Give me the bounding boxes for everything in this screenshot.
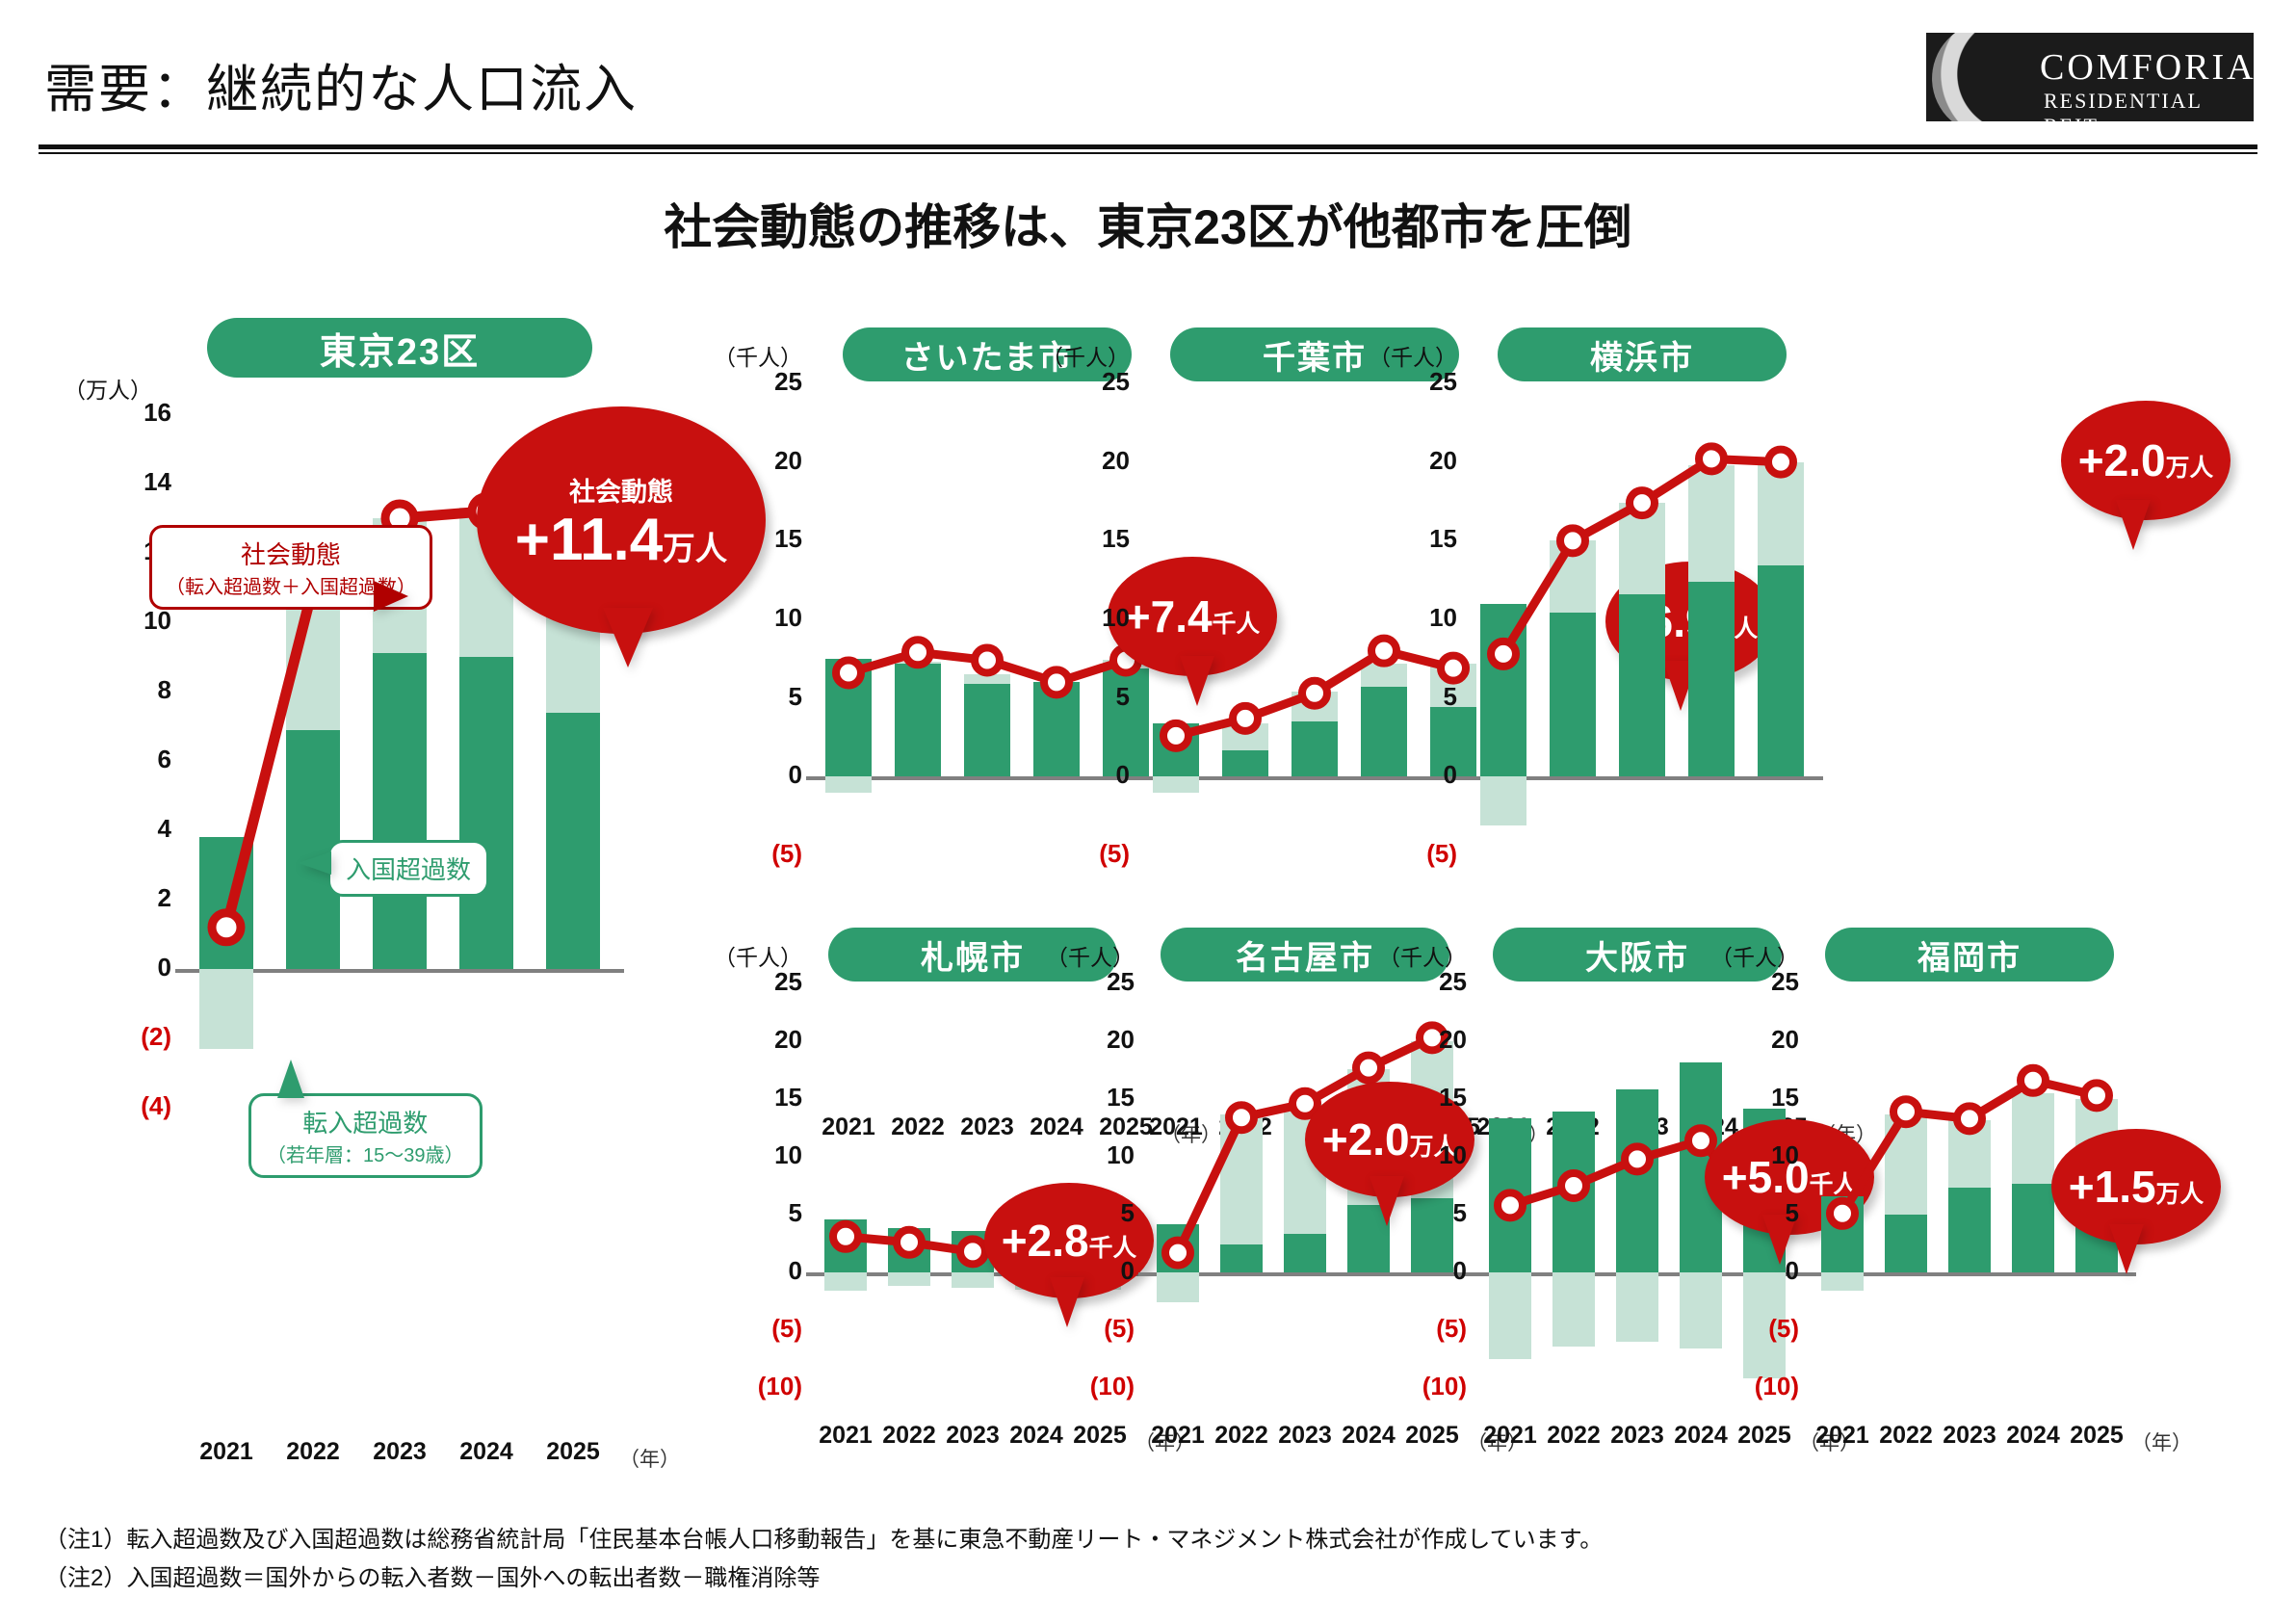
y-tick-fukuoka-m10m: (10): [1707, 1372, 1799, 1401]
legend-inmigration-line1: 転入超過数: [267, 1104, 464, 1139]
legend-inmigration-tail: [277, 1060, 304, 1098]
bar-fukuoka-2024-inmigration: [2012, 1184, 2054, 1272]
bar-fukuoka-2022-inmigration: [1885, 1215, 1927, 1272]
y-tick-fukuoka-20: 20: [1707, 1025, 1799, 1055]
y-tick-fukuoka-m5m: (5): [1707, 1314, 1799, 1344]
line-marker-fukuoka-2024: [2021, 1068, 2046, 1093]
callout-tail-fukuoka: [2109, 1224, 2144, 1274]
x-axis-unit-fukuoka: （年）: [2131, 1427, 2192, 1456]
bar-fukuoka-2021-inmigration: [1821, 1196, 1864, 1272]
footnote-2: （注2）入国超過数＝国外からの転入者数－国外への転出者数－職権消除等: [44, 1558, 820, 1592]
callout-value-fukuoka: +1.5万人: [2069, 1165, 2204, 1209]
bar-fukuoka-2023-immigration: [1948, 1120, 1991, 1189]
legend-immigration-tail: [299, 851, 331, 875]
footnote-1: （注1）転入超過数及び入国超過数は総務省統計局「住民基本台帳人口移動報告」を基に…: [44, 1520, 1603, 1554]
bar-fukuoka-2023-inmigration: [1948, 1188, 1991, 1272]
y-tick-fukuoka-5: 5: [1707, 1198, 1799, 1228]
legend-inmigration-line2: （若年層：15〜39歳）: [267, 1139, 464, 1167]
line-series-fukuoka: [0, 0, 2296, 1597]
y-tick-fukuoka-0: 0: [1707, 1256, 1799, 1286]
legend-social-line1: 社会動態: [166, 536, 416, 571]
y-tick-fukuoka-10: 10: [1707, 1140, 1799, 1170]
y-tick-fukuoka-15: 15: [1707, 1083, 1799, 1113]
chart-fukuoka: 福岡市（千人）2520151050(5)(10)2021202220232024…: [0, 0, 2296, 1597]
legend-immigration: 入国超過数: [327, 840, 489, 897]
bar-fukuoka-2021-immigration: [1821, 1272, 1864, 1291]
bar-fukuoka-2022-immigration: [1885, 1114, 1927, 1215]
y-tick-fukuoka-25: 25: [1707, 967, 1799, 997]
chart-title-fukuoka: 福岡市: [1825, 928, 2114, 982]
legend-social-tail: [374, 581, 408, 612]
legend-immigration-label: 入国超過数: [346, 851, 471, 886]
bar-fukuoka-2024-immigration: [2012, 1093, 2054, 1184]
legend-inmigration: 転入超過数（若年層：15〜39歳）: [248, 1093, 483, 1178]
